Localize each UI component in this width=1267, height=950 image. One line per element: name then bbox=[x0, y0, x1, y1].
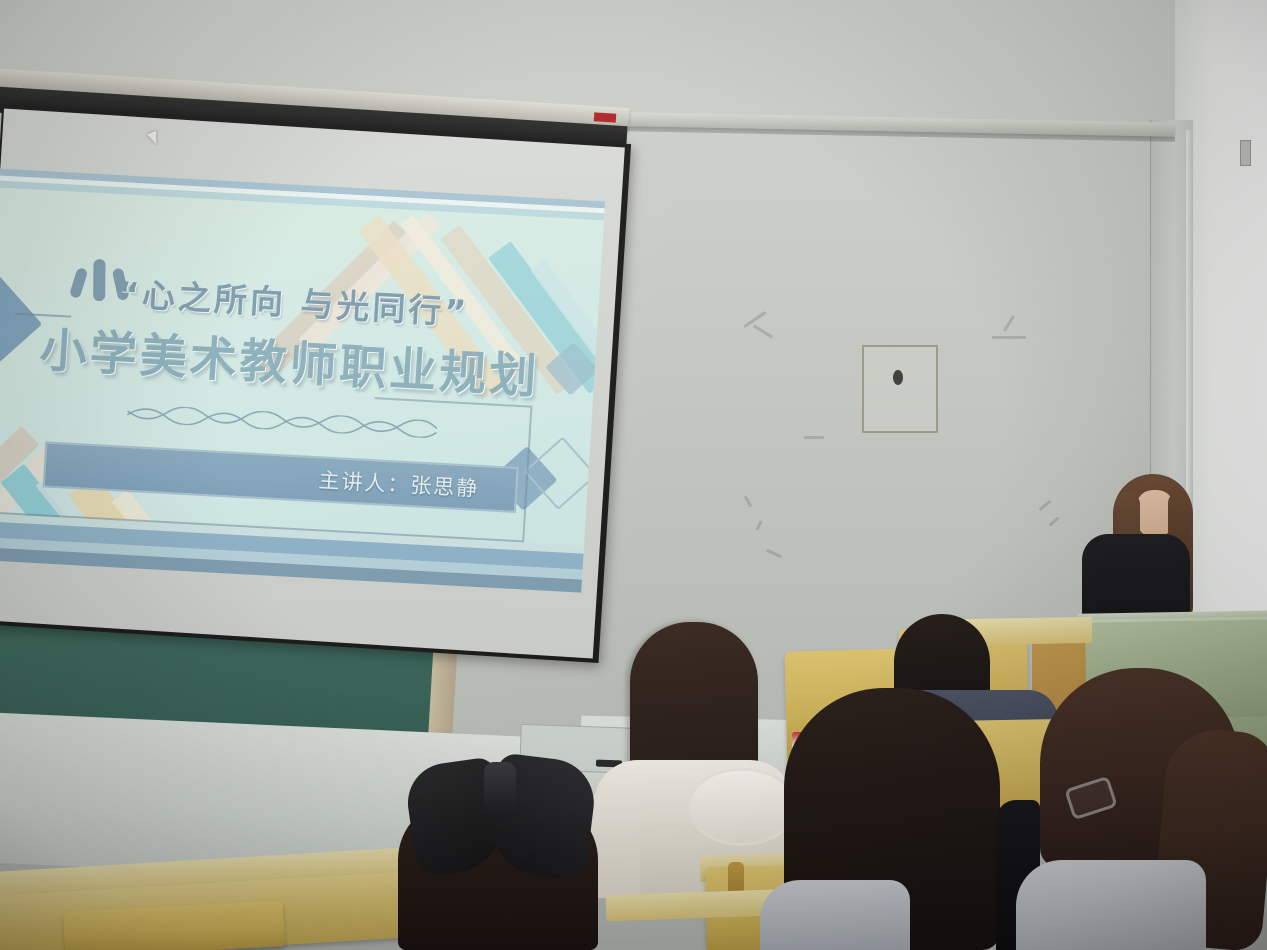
rail-hook bbox=[1240, 140, 1251, 166]
classroom-scene: “心之所向 与光同行” 小学美术教师职业规划 主讲人：张思静 bbox=[0, 0, 1267, 950]
slide-speaker-text: 主讲人：张思静 bbox=[318, 464, 517, 505]
student-glasses-ponytail-body bbox=[1016, 860, 1206, 950]
wall-outlet-screw-icon bbox=[893, 370, 903, 385]
projected-slide: “心之所向 与光同行” 小学美术教师职业规划 主讲人：张思静 bbox=[0, 168, 605, 592]
hair-bow-knot bbox=[484, 762, 516, 818]
student-long-dark-hair-shoulder bbox=[760, 880, 910, 950]
wall-outlet-plate bbox=[862, 345, 938, 433]
screen-brand-tag bbox=[594, 112, 617, 122]
wall-scuff bbox=[992, 336, 1026, 339]
wall-scuff bbox=[804, 436, 824, 439]
student-white-hoodie-collar bbox=[688, 768, 796, 846]
slide-wave-divider-icon bbox=[127, 404, 438, 439]
